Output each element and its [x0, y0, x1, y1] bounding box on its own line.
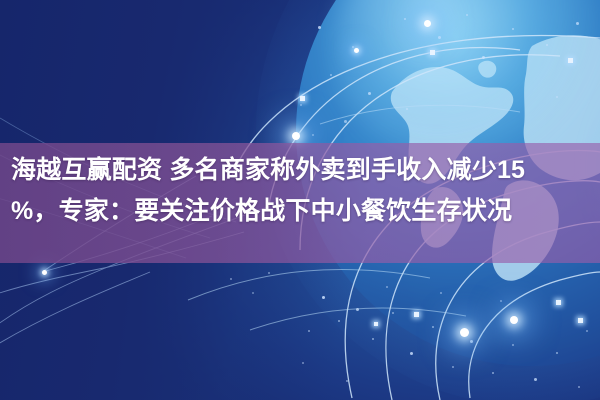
star-dot	[410, 352, 413, 355]
glow-node	[292, 132, 300, 140]
star-dot	[356, 308, 359, 311]
headline-line-2: %，专家：要关注价格战下中小餐饮生存状况	[11, 191, 595, 232]
star-dot	[492, 372, 494, 374]
star-dot	[322, 296, 325, 299]
star-dot	[318, 26, 321, 29]
star-dot	[438, 36, 441, 39]
star-dot	[500, 300, 502, 302]
node-square	[578, 318, 583, 323]
star-dot	[368, 92, 371, 95]
node-square	[374, 322, 378, 326]
glow-node	[460, 328, 469, 337]
star-dot	[556, 96, 558, 98]
star-dot	[470, 340, 473, 343]
node-square	[556, 300, 561, 305]
star-dot	[392, 312, 394, 314]
star-dot	[338, 320, 340, 322]
star-dot	[330, 74, 332, 76]
star-dot	[440, 292, 442, 294]
star-dot	[556, 352, 558, 354]
star-dot	[302, 362, 304, 364]
glow-node	[42, 270, 47, 275]
star-dot	[346, 380, 348, 382]
star-dot	[372, 338, 374, 340]
news-banner-image: 海越互赢配资 多名商家称外卖到手收入减少15 %，专家：要关注价格战下中小餐饮生…	[0, 0, 600, 400]
star-dot	[386, 286, 388, 288]
star-dot	[512, 28, 514, 30]
star-dot	[534, 378, 537, 381]
node-square	[568, 58, 573, 63]
star-dot	[512, 344, 514, 346]
glow-node	[354, 48, 359, 53]
star-dot	[452, 366, 454, 368]
star-dot	[466, 14, 468, 16]
star-dot	[300, 104, 302, 106]
star-dot	[586, 330, 588, 332]
star-dot	[344, 120, 347, 123]
node-square	[300, 96, 305, 101]
star-dot	[404, 18, 406, 20]
star-dot	[482, 56, 485, 59]
star-dot	[406, 108, 408, 110]
node-square	[414, 312, 419, 317]
star-dot	[352, 46, 354, 48]
glow-node	[510, 316, 518, 324]
star-dot	[268, 272, 270, 274]
star-dot	[576, 22, 579, 25]
star-dot	[308, 330, 310, 332]
star-dot	[578, 386, 580, 388]
star-dot	[230, 278, 232, 280]
star-dot	[546, 44, 548, 46]
star-dot	[252, 292, 254, 294]
star-dot	[312, 134, 314, 136]
headline-text: 海越互赢配资 多名商家称外卖到手收入减少15 %，专家：要关注价格战下中小餐饮生…	[11, 150, 595, 232]
star-dot	[432, 326, 434, 328]
glow-node	[424, 20, 431, 27]
headline-line-1: 海越互赢配资 多名商家称外卖到手收入减少15	[11, 150, 595, 191]
node-square	[430, 50, 435, 55]
